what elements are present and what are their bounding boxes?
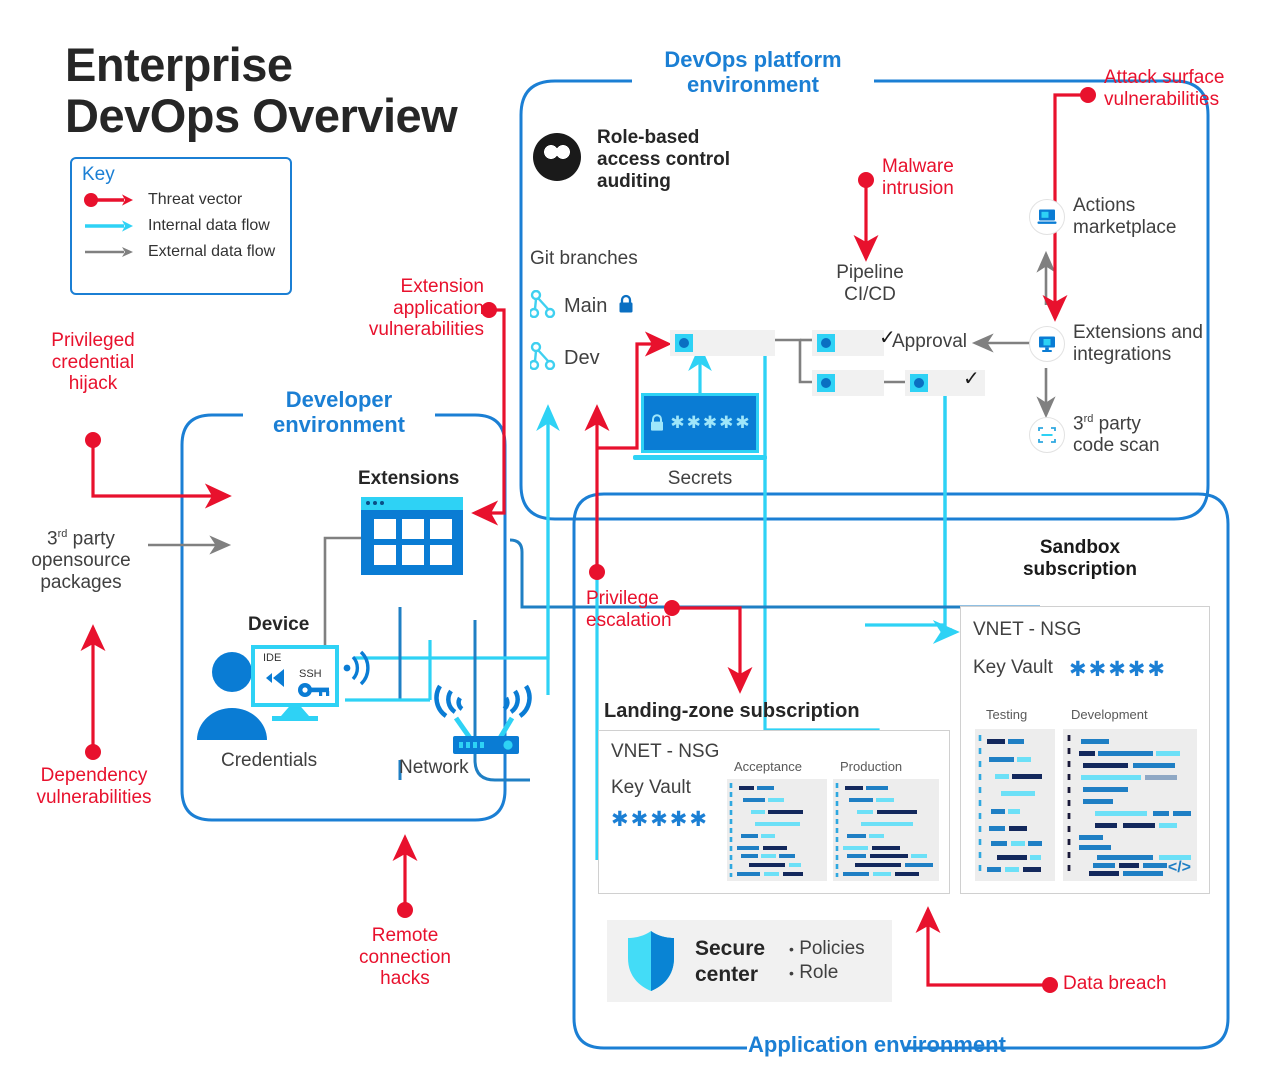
key-heading: Key	[82, 164, 280, 186]
threat-line2: vulnerabilities	[14, 787, 174, 809]
branch-name: Main	[564, 295, 607, 318]
shield-icon	[625, 930, 677, 997]
code-glyph-icon: </>	[1168, 859, 1191, 877]
application-environment-title: Application environment	[748, 1033, 906, 1058]
page-title-line2: DevOps Overview	[65, 91, 515, 142]
diagram-canvas: Enterprise DevOps Overview Key Threat ve…	[0, 0, 1280, 1084]
third-party-packages-label: 3rd party opensource packages	[16, 528, 146, 594]
secure-center-line2: center	[695, 962, 765, 988]
landing-zone-col-1-label: Production	[840, 759, 902, 774]
threat-line3: vulnerabilities	[344, 319, 484, 341]
code-scan-label: 3rd party code scan	[1073, 413, 1273, 457]
secure-center-bullets: • Policies • Role	[789, 937, 865, 986]
threat-line1: Privileged	[23, 330, 163, 352]
code-scan-party-text: party	[1093, 413, 1141, 434]
threat-label-remote-connection: Remote connection hacks	[330, 925, 480, 990]
sandbox-title-line2: subscription	[960, 559, 1200, 581]
secure-center-bullet-0: • Policies	[789, 937, 865, 961]
red-dot-arrow-icon	[82, 190, 148, 210]
threat-line1: Dependency	[14, 765, 174, 787]
sandbox-panel: VNET - NSG Key Vault ✱✱✱✱✱ Testing Devel…	[960, 606, 1210, 894]
secure-center-line1: Secure	[695, 936, 765, 962]
approval-label: Approval	[892, 331, 967, 353]
threat-line1: Attack surface	[1104, 67, 1274, 89]
rbac-label: Role-based access control auditing	[597, 127, 797, 193]
threat-line3: hijack	[23, 373, 163, 395]
threat-line1: Extension	[344, 276, 484, 298]
wifi-icon	[343, 648, 377, 693]
threat-label-privileged-credential: Privileged credential hijack	[23, 330, 163, 395]
actions-line2: marketplace	[1073, 217, 1273, 239]
git-branches-label: Git branches	[530, 248, 638, 270]
landing-zone-code-production	[833, 779, 939, 881]
devops-env-line1: DevOps platform	[630, 48, 876, 73]
threat-label-dependency: Dependency vulnerabilities	[14, 765, 174, 808]
rbac-line3: auditing	[597, 171, 797, 193]
bullet-label: Policies	[799, 938, 864, 959]
landing-zone-keyvault: Key Vault	[611, 777, 691, 799]
third-party-number: 3	[47, 528, 58, 549]
monitor-extension-icon[interactable]	[1029, 326, 1065, 362]
bullet-label: Role	[799, 962, 838, 983]
extensions-grid-icon[interactable]	[361, 497, 463, 575]
sandbox-col-1-label: Development	[1071, 707, 1148, 722]
key-item-label: Threat vector	[148, 191, 242, 209]
pipeline-stage-3[interactable]	[812, 370, 884, 396]
sandbox-code-testing	[975, 729, 1055, 881]
extensions-integrations-label: Extensions and integrations	[1073, 322, 1273, 366]
key-item-label: External data flow	[148, 243, 275, 261]
threat-line1: Privilege	[586, 588, 706, 610]
devops-environment-title: DevOps platform environment	[630, 48, 876, 97]
threat-line1: Remote	[330, 925, 480, 947]
sandbox-masked: ✱✱✱✱✱	[1069, 657, 1167, 682]
network-label: Network	[399, 757, 469, 779]
extensions-line2: integrations	[1073, 344, 1273, 366]
threat-line2: vulnerabilities	[1104, 89, 1274, 111]
device-label: Device	[248, 614, 309, 636]
developer-environment-title: Developer environment	[244, 388, 434, 437]
threat-line2: application	[344, 298, 484, 320]
router-icon	[428, 678, 542, 763]
key-icon	[297, 681, 331, 699]
pipeline-label: Pipeline CI/CD	[805, 262, 935, 306]
threat-label-malware: Malware intrusion	[882, 156, 1012, 199]
branch-icon	[530, 290, 556, 323]
actions-line1: Actions	[1073, 195, 1273, 217]
threat-line2: escalation	[586, 610, 706, 632]
github-icon	[533, 133, 581, 181]
threat-line2: intrusion	[882, 178, 1012, 200]
lock-icon	[617, 294, 635, 319]
code-scan-ordinal-number: 3	[1073, 413, 1084, 434]
sandbox-title-line1: Sandbox	[960, 537, 1200, 559]
threat-line1: Malware	[882, 156, 1012, 178]
key-item-label: Internal data flow	[148, 217, 270, 235]
ide-label: IDE	[263, 652, 281, 664]
ssh-label: SSH	[299, 668, 322, 680]
sandbox-code-development: </>	[1063, 729, 1197, 881]
landing-zone-masked: ✱✱✱✱✱	[611, 807, 709, 832]
landing-zone-col-0-label: Acceptance	[734, 759, 802, 774]
cyan-arrow-icon	[82, 216, 148, 236]
grey-arrow-icon	[82, 242, 148, 262]
sandbox-title: Sandbox subscription	[960, 537, 1200, 581]
threat-label-privilege-escalation: Privilege escalation	[586, 588, 706, 631]
secrets-laptop-icon: ✱✱✱✱✱	[641, 393, 767, 460]
code-scan-line1: 3rd party	[1073, 413, 1273, 435]
developer-env-line1: Developer	[244, 388, 434, 413]
threat-label-data-breach: Data breach	[1063, 973, 1167, 995]
landing-zone-vnet: VNET - NSG	[611, 741, 719, 763]
pipeline-stage-2[interactable]	[812, 330, 884, 356]
page-title-line1: Enterprise	[65, 40, 515, 91]
threat-label-extension-app: Extension application vulnerabilities	[344, 276, 484, 341]
pipeline-stage-1[interactable]	[670, 330, 775, 356]
rbac-line2: access control	[597, 149, 797, 171]
landing-zone-title: Landing-zone subscription	[604, 700, 860, 723]
monitor-icon[interactable]: IDE SSH	[251, 645, 339, 721]
threat-label-attack-surface: Attack surface vulnerabilities	[1104, 67, 1274, 110]
third-party-line3: packages	[16, 572, 146, 594]
vscode-icon	[263, 666, 289, 690]
stage-check-icon: ✓	[963, 366, 980, 391]
sandbox-col-0-label: Testing	[986, 707, 1027, 722]
threat-line2: credential	[23, 352, 163, 374]
developer-env-line2: environment	[244, 413, 434, 438]
key-legend: Key Threat vector Internal data flow	[70, 157, 292, 295]
threat-line3: hacks	[330, 968, 480, 990]
extensions-label: Extensions	[358, 468, 459, 490]
credentials-label: Credentials	[221, 750, 317, 772]
secure-center-bullet-1: • Role	[789, 961, 865, 985]
lock-icon	[648, 413, 666, 433]
key-item-external-flow: External data flow	[82, 239, 280, 265]
pipeline-line1: Pipeline	[805, 262, 935, 284]
rbac-line1: Role-based	[597, 127, 797, 149]
third-party-text: party	[67, 528, 115, 549]
secure-center-panel: Secure center • Policies • Role	[607, 920, 892, 1002]
branch-icon	[530, 342, 556, 375]
pipeline-line2: CI/CD	[805, 284, 935, 306]
secrets-label: Secrets	[641, 468, 759, 490]
landing-zone-code-acceptance	[727, 779, 827, 881]
landing-zone-panel: VNET - NSG Key Vault ✱✱✱✱✱ Acceptance Pr…	[598, 730, 950, 894]
code-scan-ordinal-suffix: rd	[1084, 413, 1094, 425]
key-item-internal-flow: Internal data flow	[82, 213, 280, 239]
actions-marketplace-icon[interactable]	[1029, 199, 1065, 235]
devops-env-line2: environment	[630, 73, 876, 98]
branch-name: Dev	[564, 347, 600, 370]
secrets-masked-value: ✱✱✱✱✱	[670, 413, 751, 433]
page-title: Enterprise DevOps Overview	[65, 40, 515, 142]
actions-marketplace-label: Actions marketplace	[1073, 195, 1273, 239]
third-party-suffix: rd	[58, 528, 68, 540]
key-item-threat-vector: Threat vector	[82, 187, 280, 213]
extensions-line1: Extensions and	[1073, 322, 1273, 344]
third-party-line2: opensource	[16, 550, 146, 572]
git-branch-main[interactable]: Main	[530, 290, 635, 323]
third-party-line1: 3rd party	[16, 528, 146, 550]
code-scan-line2: code scan	[1073, 435, 1273, 457]
code-scan-icon[interactable]	[1029, 417, 1065, 453]
secure-center-label: Secure center	[695, 936, 765, 989]
sandbox-keyvault: Key Vault	[973, 657, 1053, 679]
sandbox-vnet: VNET - NSG	[973, 619, 1081, 641]
git-branch-dev[interactable]: Dev	[530, 342, 600, 375]
threat-line2: connection	[330, 947, 480, 969]
